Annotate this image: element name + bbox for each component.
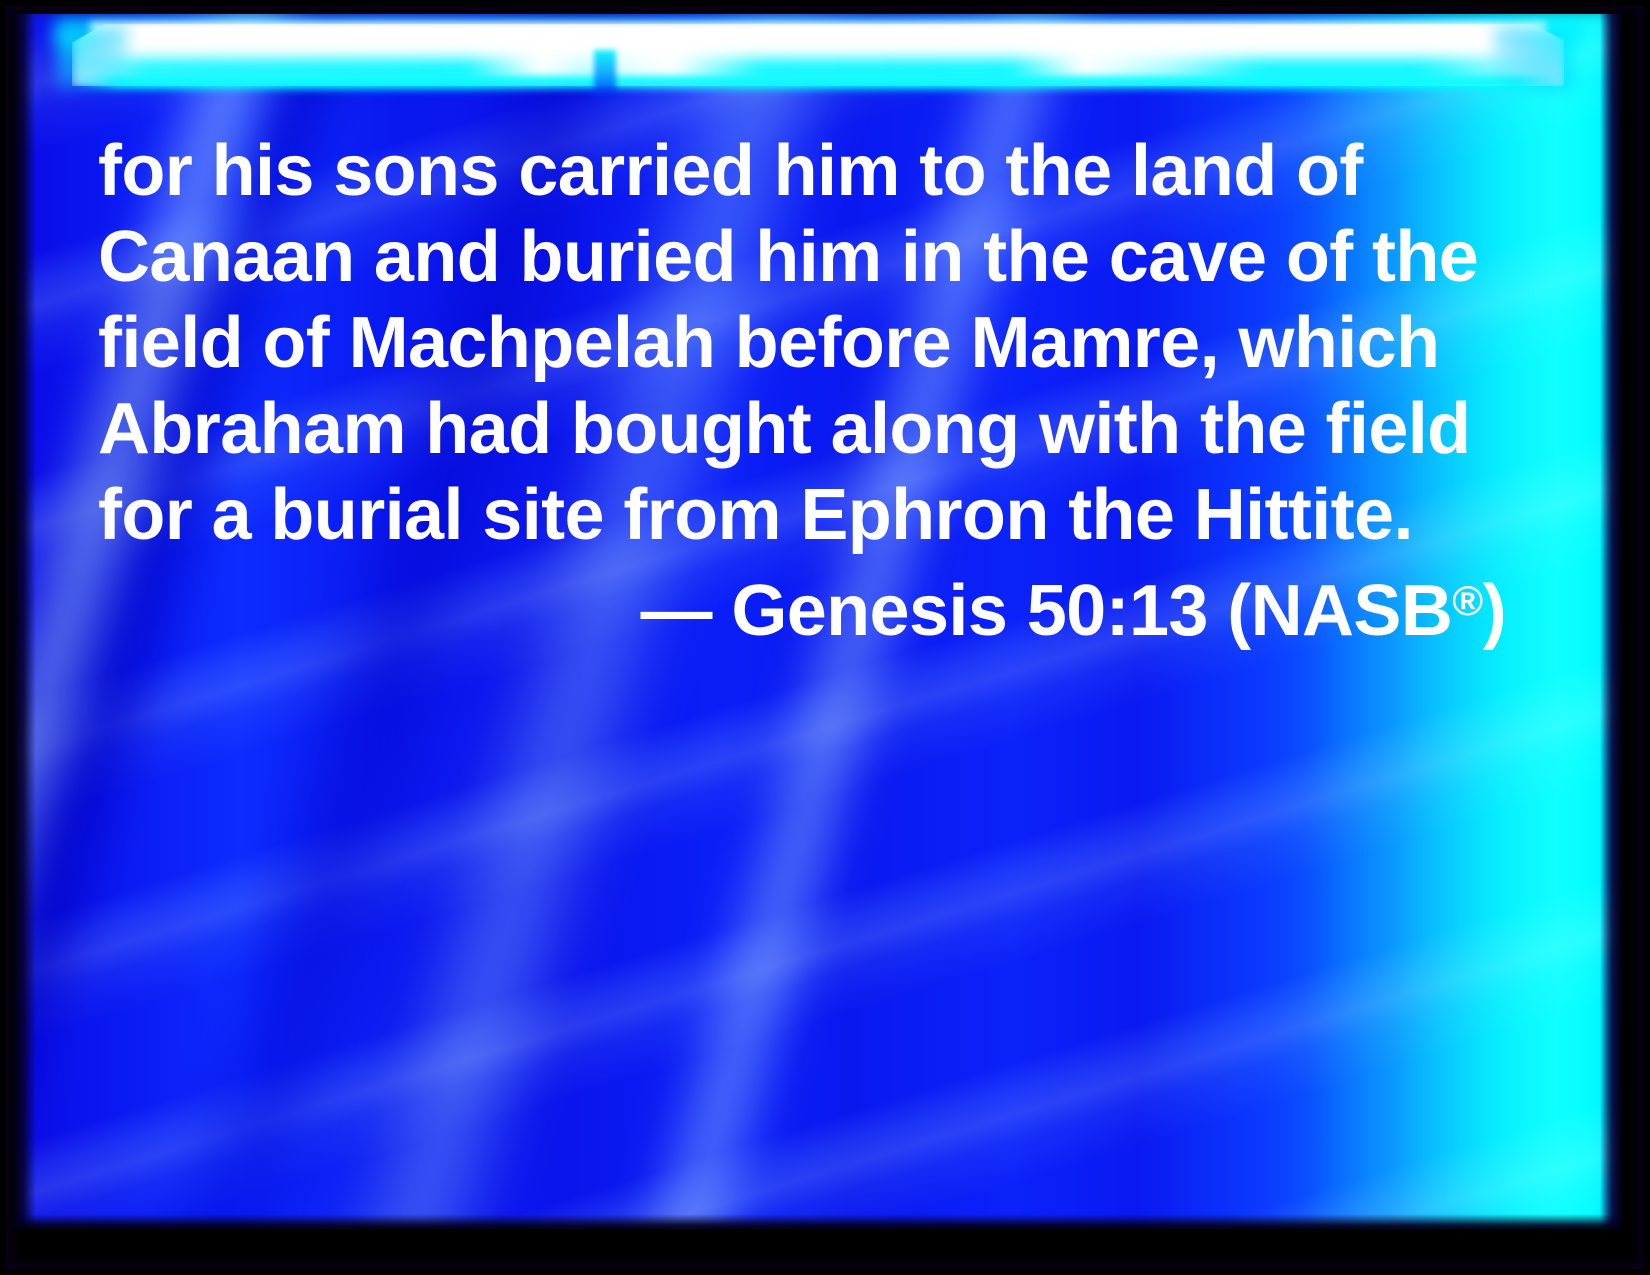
verse-line-1: for his sons carried him to the land of: [98, 128, 1518, 214]
verse-line-3: field of Machpelah before Mamre, which: [98, 300, 1518, 386]
verse-line-4: Abraham had bought along with the field: [98, 386, 1518, 472]
attribution-translation-close: ): [1483, 571, 1506, 651]
verse-line-2: Canaan and buried him in the cave of the: [98, 214, 1518, 300]
slide-background-panel: for his sons carried him to the land of …: [14, 14, 1622, 1230]
attribution-reference: 50:13: [1027, 571, 1208, 651]
registered-trademark-icon: ®: [1452, 577, 1482, 624]
bottom-edge-shadow: [14, 1214, 1622, 1230]
attribution-translation-open: (NASB: [1227, 571, 1452, 651]
right-edge-shadow: [1600, 14, 1622, 1230]
attribution-book: Genesis: [731, 571, 1007, 651]
verse-text-block: for his sons carried him to the land of …: [98, 128, 1518, 654]
verse-attribution: — Genesis 50:13 (NASB®): [98, 558, 1518, 654]
attribution-dash: —: [641, 571, 712, 651]
verse-slide: for his sons carried him to the land of …: [0, 0, 1650, 1275]
left-edge-shadow: [14, 14, 36, 1230]
verse-line-5: for a burial site from Ephron the Hittit…: [98, 472, 1518, 558]
